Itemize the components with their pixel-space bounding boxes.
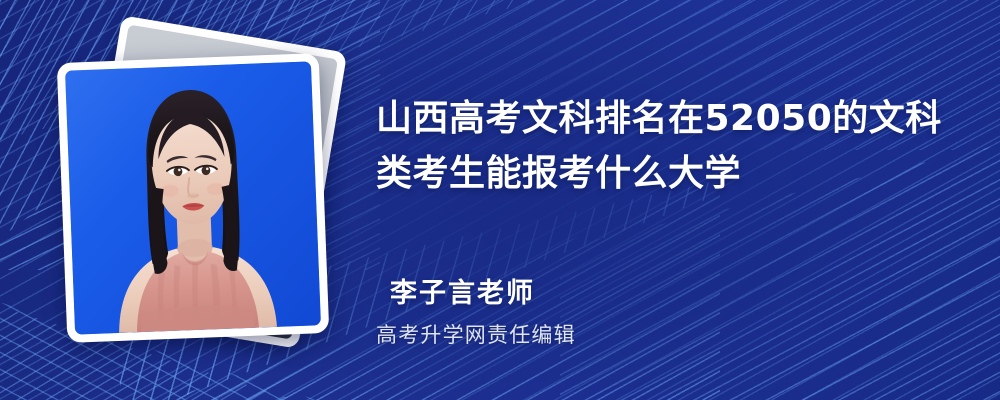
author-name: 李子言老师: [390, 271, 535, 310]
page-title-line-1: 山西高考文科排名在52050的文科: [376, 98, 942, 139]
article-cover-banner: 山西高考文科排名在52050的文科 类考生能报考什么大学 李子言老师 高考升学网…: [0, 0, 1000, 400]
portrait-illustration: [65, 61, 321, 334]
page-title-line-2: 类考生能报考什么大学: [376, 153, 741, 194]
author-role: 高考升学网责任编辑: [376, 319, 576, 349]
page-title: 山西高考文科排名在52050的文科 类考生能报考什么大学: [376, 92, 956, 201]
photo-card-front: [57, 53, 330, 343]
text-block: 山西高考文科排名在52050的文科 类考生能报考什么大学 李子言老师 高考升学网…: [376, 0, 976, 400]
photo-stack: [62, 36, 352, 356]
instructor-portrait-photo: [65, 61, 321, 334]
